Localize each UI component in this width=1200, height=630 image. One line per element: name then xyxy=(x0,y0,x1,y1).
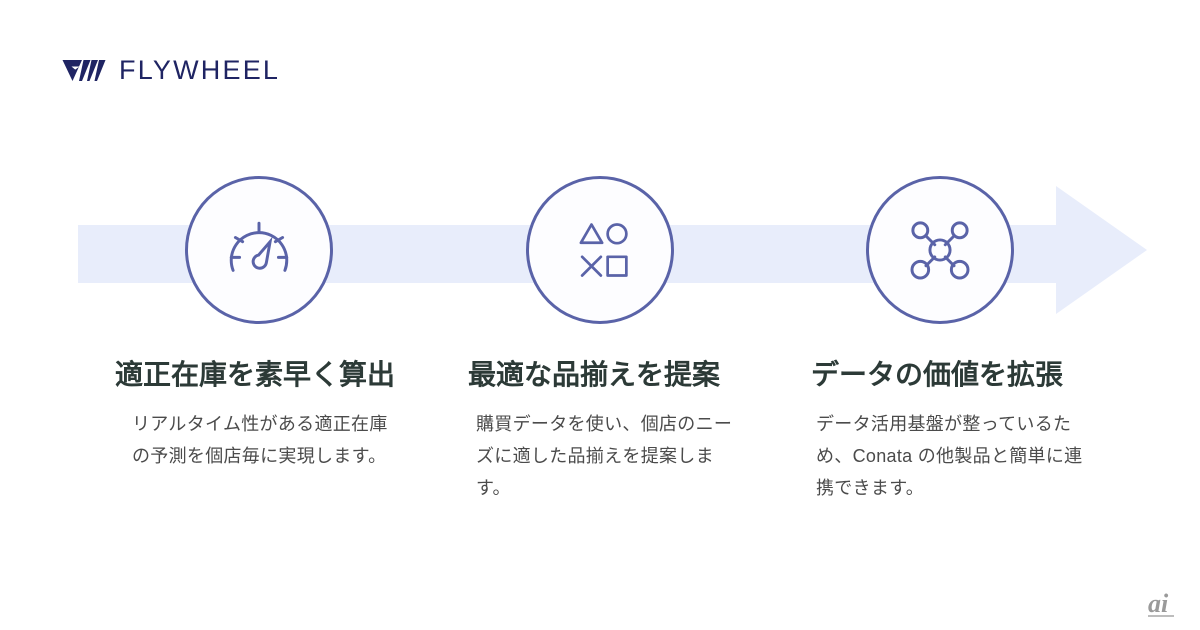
step-2-title: 最適な品揃えを提案 xyxy=(430,357,770,392)
step-2-icon-circle xyxy=(526,176,674,324)
step-2-body: 購買データを使い、個店のニーズに適した品揃えを提案します。 xyxy=(430,408,744,504)
step-item-1: 適正在庫を素早く算出 リアルタイム性がある適正在庫の予測を個店毎に実現します。 xyxy=(90,176,430,472)
network-hub-nodes-icon xyxy=(905,215,975,285)
step-3-icon-circle xyxy=(866,176,1014,324)
step-3-body: データ活用基盤が整っているため、Conata の他製品と簡単に連携できます。 xyxy=(768,408,1084,504)
step-1-title: 適正在庫を素早く算出 xyxy=(90,357,430,392)
ai-watermark-logo: ai xyxy=(1142,584,1190,624)
step-3-title: データの価値を拡張 xyxy=(768,357,1108,392)
step-1-icon-circle xyxy=(185,176,333,324)
watermark-text: ai xyxy=(1148,589,1169,618)
step-item-2: 最適な品揃えを提案 購買データを使い、個店のニーズに適した品揃えを提案します。 xyxy=(430,176,770,504)
speedometer-gauge-icon xyxy=(222,213,296,287)
steps-row: 適正在庫を素早く算出 リアルタイム性がある適正在庫の予測を個店毎に実現します。 … xyxy=(0,0,1200,630)
assorted-shapes-icon xyxy=(566,216,634,284)
step-item-3: データの価値を拡張 データ活用基盤が整っているため、Conata の他製品と簡単… xyxy=(768,176,1108,504)
step-1-body: リアルタイム性がある適正在庫の予測を個店毎に実現します。 xyxy=(90,408,400,472)
